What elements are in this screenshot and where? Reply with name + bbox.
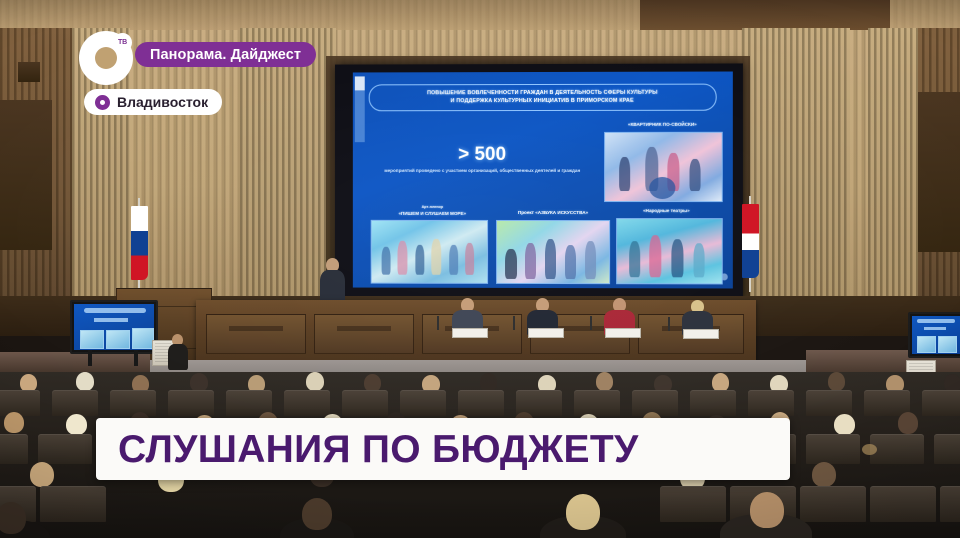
city-label: Владивосток xyxy=(117,94,208,110)
nameplate-1 xyxy=(452,328,488,338)
microphone-2 xyxy=(513,316,515,330)
slide-title-line-2: И ПОДДЕРЖКА КУЛЬТУРНЫХ ИНИЦИАТИВ В ПРИМО… xyxy=(376,97,710,106)
otv-logo: ТВ xyxy=(79,31,133,85)
nameplate-3 xyxy=(605,328,641,338)
location-pin-icon xyxy=(95,95,110,110)
slide-statistic-caption: мероприятий проведено с участием организ… xyxy=(379,167,586,174)
logo-ring-hole xyxy=(95,47,117,69)
microphone-3 xyxy=(590,316,592,330)
slide-photo-kvartirnik xyxy=(604,132,723,202)
left-wall-vent xyxy=(18,62,40,82)
slide-canvas: ПОВЫШЕНИЕ ВОВЛЕЧЕННОСТИ ГРАЖДАН В ДЕЯТЕЛ… xyxy=(353,72,733,289)
logo-tv-badge: ТВ xyxy=(113,33,132,52)
slide-caption-top-right: «КВАРТИРНИК ПО-СВОЙСКИ» xyxy=(598,122,727,129)
slide-photo-azbuka xyxy=(496,220,610,284)
left-wall-dark-panel xyxy=(0,100,52,250)
presidium-panel xyxy=(206,314,306,354)
program-title-badge: Панорама. Дайджест xyxy=(135,42,316,67)
broadcast-frame: ПОВЫШЕНИЕ ВОВЛЕЧЕННОСТИ ГРАЖДАН В ДЕЯТЕЛ… xyxy=(0,0,960,538)
main-presentation-screen: ПОВЫШЕНИЕ ВОВЛЕЧЕННОСТИ ГРАЖДАН В ДЕЯТЕЛ… xyxy=(335,63,743,299)
microphone-4 xyxy=(668,317,670,331)
city-badge: Владивосток xyxy=(84,89,222,115)
left-monitor-stand xyxy=(88,350,92,366)
slide-caption-bottom-left: «ПИШЕМ И СЛУШАЕМ МОРЕ» xyxy=(367,211,498,218)
left-monitor-screen xyxy=(74,304,154,350)
slide-photo-folk-theatre xyxy=(616,218,723,284)
right-monitor-screen xyxy=(912,316,960,354)
slide-caption-bottom-left-small: Арт-пленэр xyxy=(371,205,494,210)
seat-number-badge xyxy=(862,444,877,455)
right-stage-drape xyxy=(868,28,918,314)
headline-text: СЛУШАНИЯ ПО БЮДЖЕТУ xyxy=(96,430,639,469)
slide-photo-plein-air xyxy=(371,220,488,284)
microphone-1 xyxy=(437,316,439,330)
slide-statistic-value: > 500 xyxy=(393,144,572,166)
screen-corner-icon xyxy=(355,76,365,90)
program-title-label: Панорама. Дайджест xyxy=(150,47,301,63)
left-monitor-stand xyxy=(134,350,138,366)
nameplate-2 xyxy=(528,328,564,338)
ceiling-decor-panel xyxy=(640,0,890,30)
headline-banner: СЛУШАНИЯ ПО БЮДЖЕТУ xyxy=(96,418,790,480)
slide-caption-bottom-center: Проект «АЗБУКА ИСКУССТВА» xyxy=(494,210,612,217)
presidium-panel xyxy=(314,314,414,354)
left-side-monitor xyxy=(70,300,158,354)
slide-caption-bottom-right: «Народные театры» xyxy=(614,208,719,215)
slide-title-box: ПОВЫШЕНИЕ ВОВЛЕЧЕННОСТИ ГРАЖДАН В ДЕЯТЕЛ… xyxy=(369,84,717,111)
nameplate-4 xyxy=(683,329,719,339)
left-inner-drape xyxy=(240,28,336,303)
right-side-monitor xyxy=(908,312,960,358)
